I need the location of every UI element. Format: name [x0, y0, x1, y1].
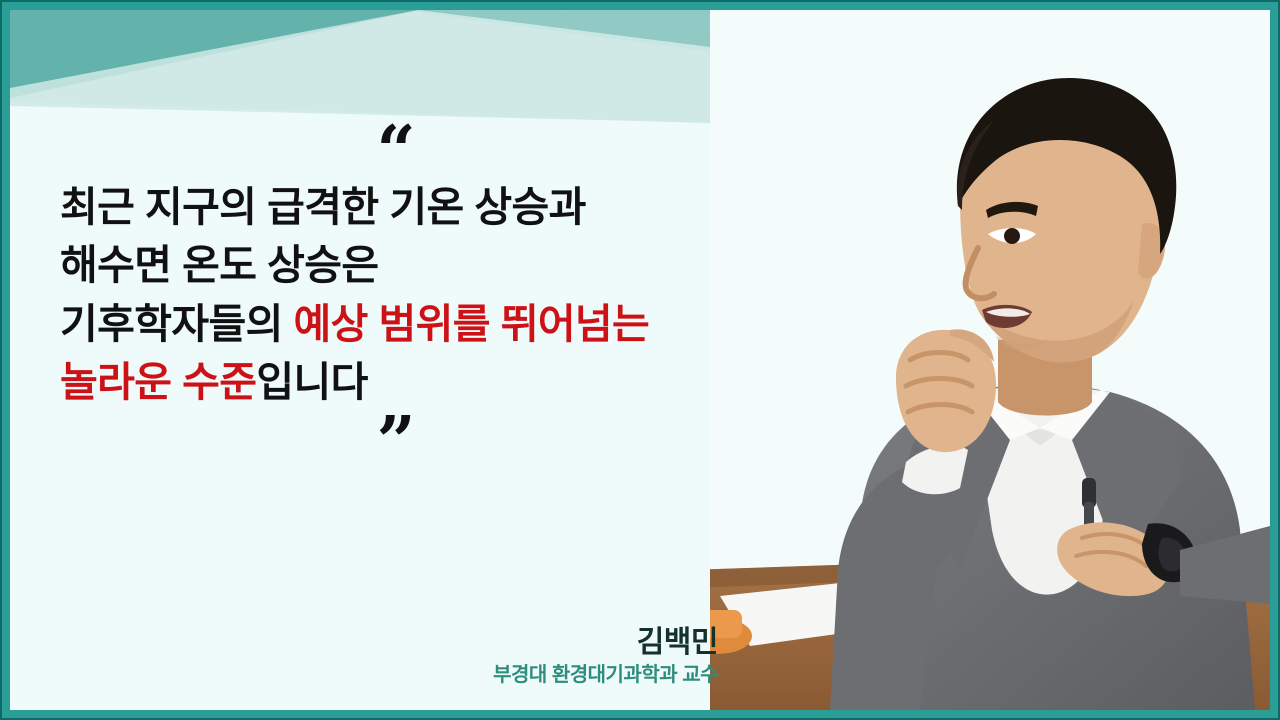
quote-card: “ 최근 지구의 급격한 기온 상승과 해수면 온도 상승은 기후학자들의 예상…: [0, 0, 1280, 720]
quote-line-2-seg-1: 해수면 온도 상승은: [60, 242, 379, 288]
quote-line-3-highlight: 예상 범위를 뛰어넘는: [294, 301, 650, 347]
quote-lines: 최근 지구의 급격한 기온 상승과 해수면 온도 상승은 기후학자들의 예상 범…: [60, 178, 720, 411]
speaker-name: 김백민: [298, 626, 718, 661]
deco-layer2-dark: [10, 10, 418, 88]
quote-line-4-seg-2: 입니다: [256, 359, 367, 405]
speaker-role: 부경대 환경대기과학과 교수: [298, 662, 718, 688]
quote-close-mark: ”: [60, 421, 720, 463]
quote-line-1-seg-1: 최근 지구의 급격한 기온 상승과: [60, 184, 586, 230]
quote-line-1: 최근 지구의 급격한 기온 상승과: [60, 178, 720, 236]
quote-line-4-highlight: 놀라운 수준: [60, 359, 256, 405]
card-canvas: “ 최근 지구의 급격한 기온 상승과 해수면 온도 상승은 기후학자들의 예상…: [10, 10, 1270, 710]
speaker-photo: [710, 10, 1270, 710]
quote-line-3-seg-1: 기후학자들의: [60, 301, 294, 347]
quote-open-mark: “: [60, 130, 720, 172]
quote-block: “ 최근 지구의 급격한 기온 상승과 해수면 온도 상승은 기후학자들의 예상…: [60, 130, 720, 463]
lapel-mic: [1082, 478, 1096, 528]
quote-line-2: 해수면 온도 상승은: [60, 236, 720, 294]
quote-line-3: 기후학자들의 예상 범위를 뛰어넘는: [60, 295, 720, 353]
deco-shape-dark: [10, 10, 420, 98]
speaker-caption: 김백민 부경대 환경대기과학과 교수: [298, 626, 718, 689]
